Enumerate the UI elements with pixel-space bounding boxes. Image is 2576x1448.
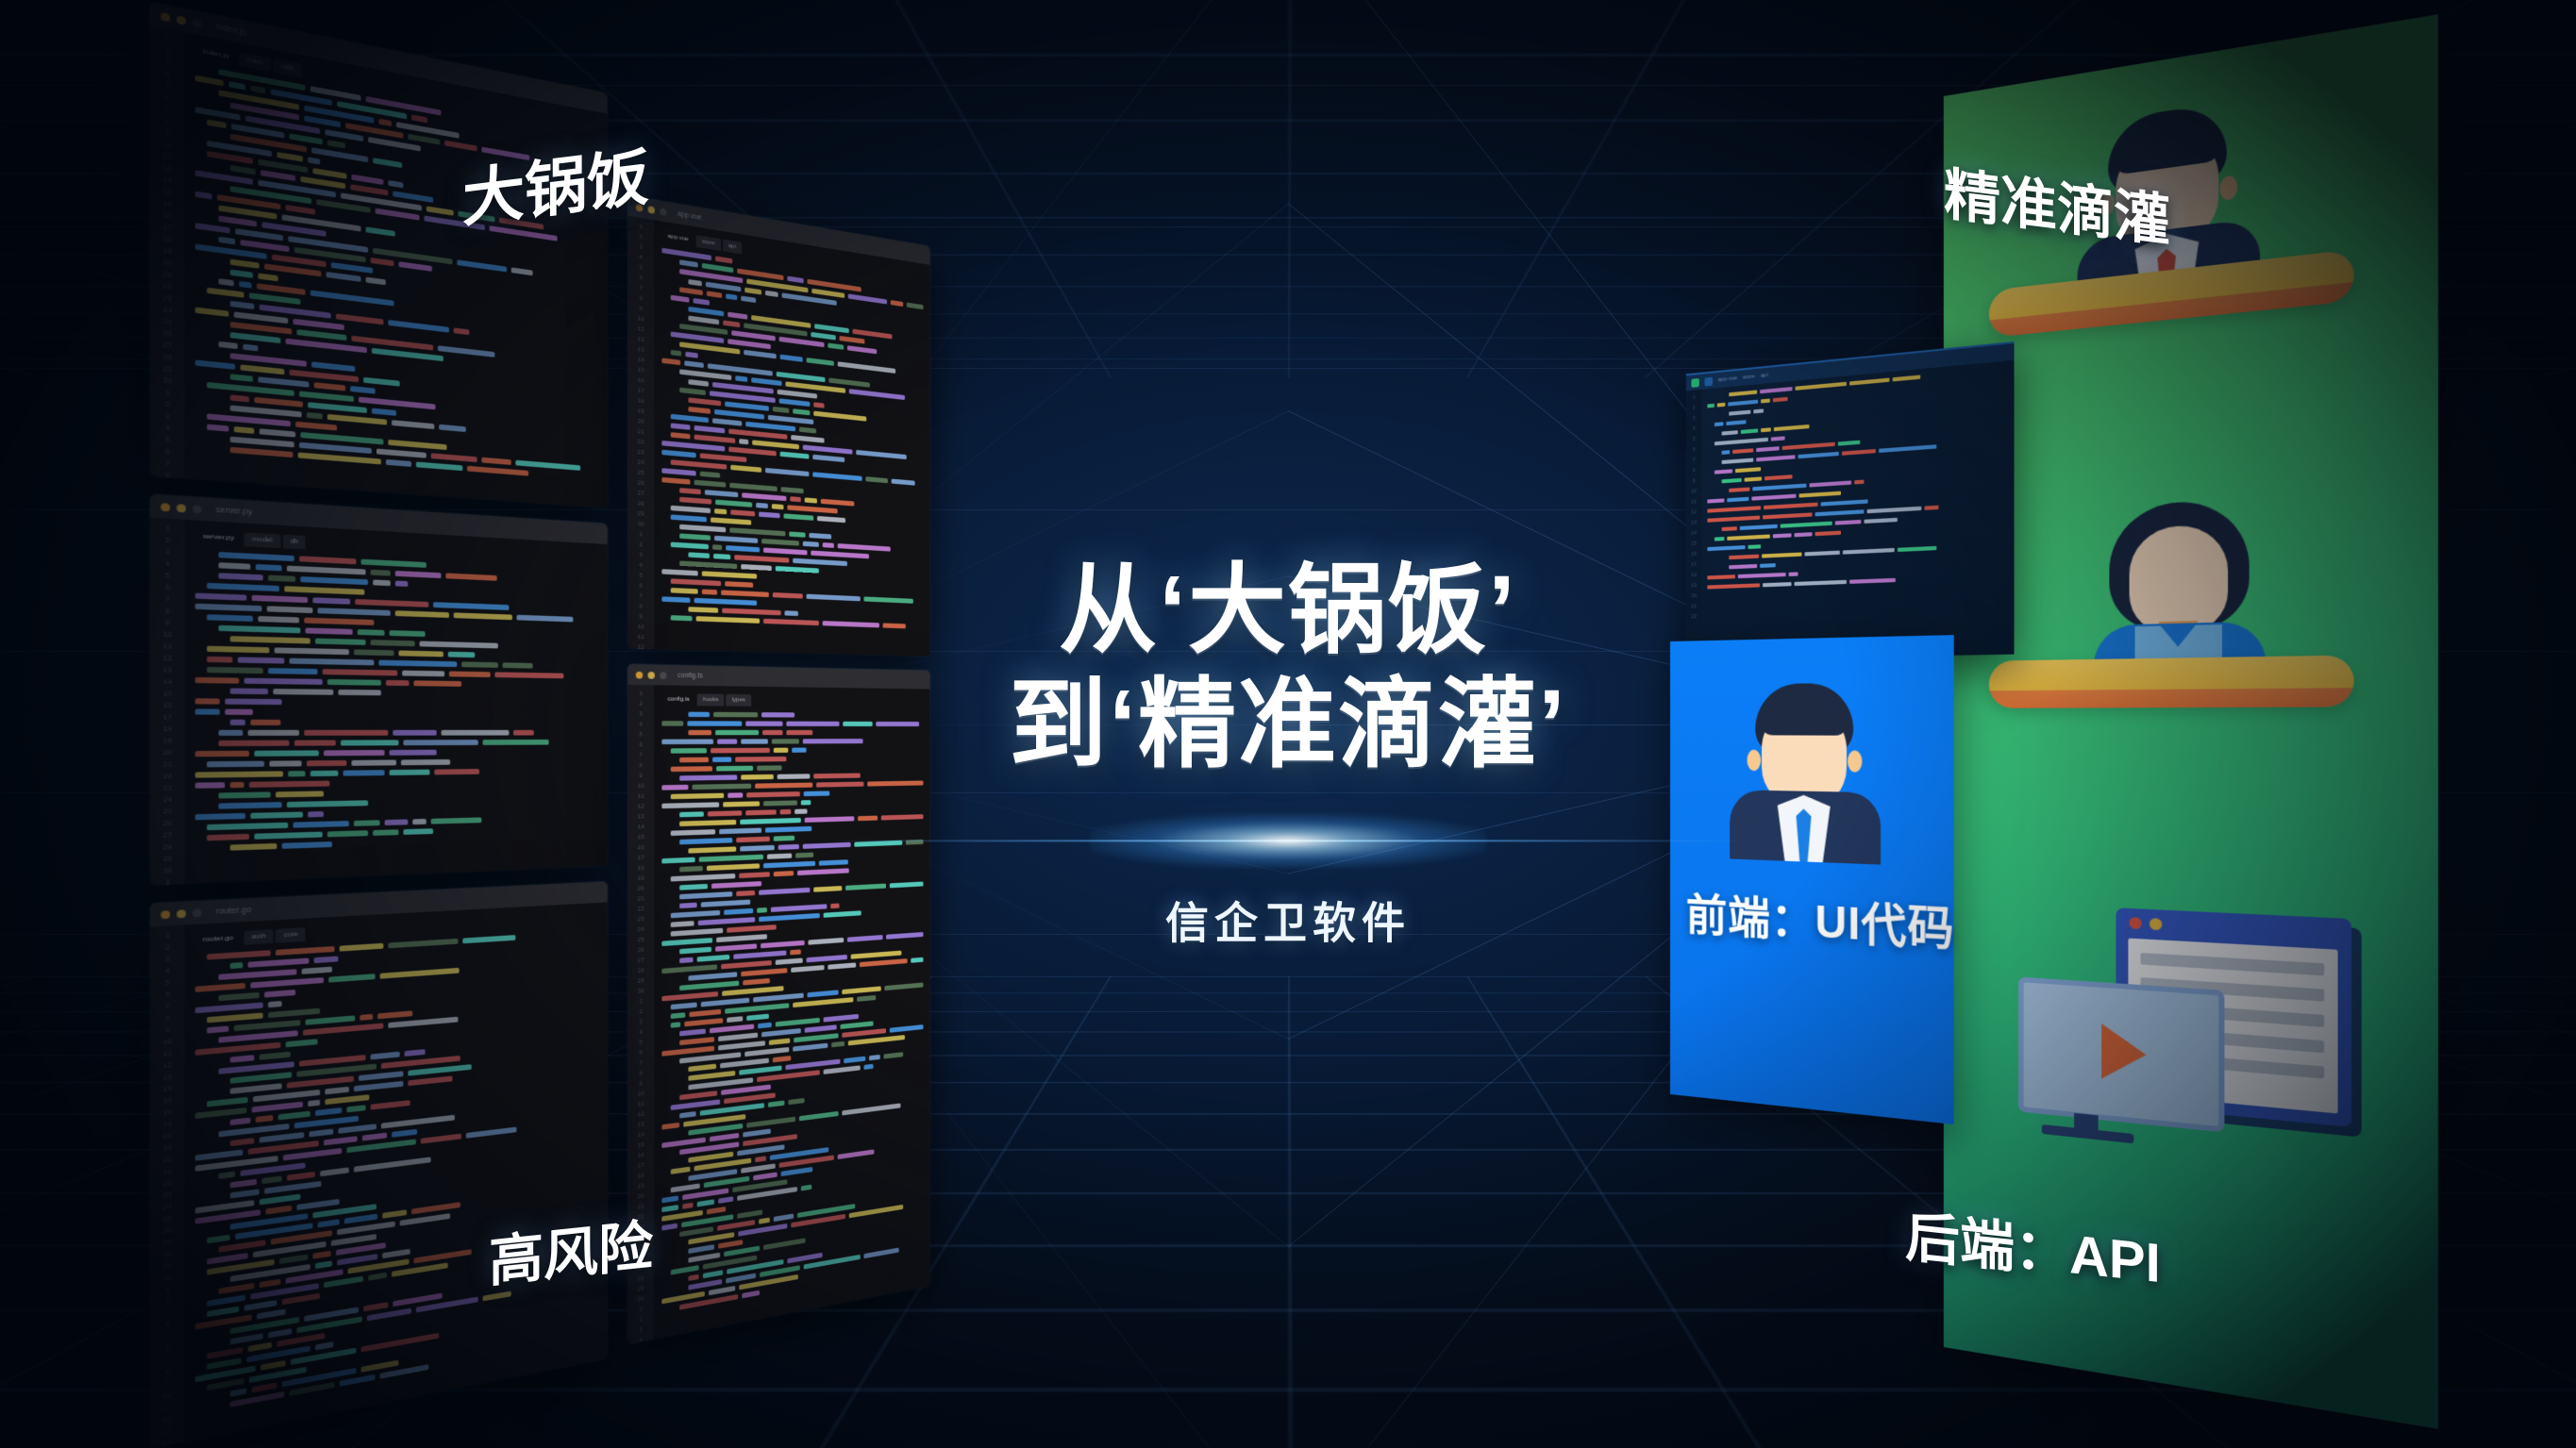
minimize-icon[interactable] — [176, 504, 186, 512]
code-token — [294, 741, 336, 746]
line-number: 15 — [637, 1142, 644, 1150]
code-token — [802, 444, 852, 454]
grid-line-vertical — [2536, 976, 2576, 1448]
line-number: 17 — [637, 388, 644, 394]
code-token — [377, 1010, 413, 1019]
code-token — [392, 420, 434, 429]
line-number: 9 — [165, 484, 170, 491]
code-token — [327, 140, 345, 148]
line-number: 26 — [162, 330, 172, 339]
code-token — [394, 610, 449, 618]
maximize-icon[interactable] — [660, 672, 666, 679]
code-token — [207, 1235, 230, 1244]
code-token — [789, 1098, 805, 1105]
code-token — [1752, 484, 1806, 491]
editor-tab[interactable]: app.vue — [661, 229, 694, 246]
code-token — [761, 712, 795, 717]
code-token — [869, 1055, 880, 1060]
code-token — [327, 414, 387, 425]
code-token — [401, 759, 451, 765]
close-icon[interactable] — [160, 11, 170, 22]
editor-tab[interactable]: api — [723, 240, 742, 255]
code-token — [688, 397, 721, 406]
code-token — [511, 267, 533, 275]
code-token — [1781, 442, 1835, 450]
code-token — [721, 960, 772, 969]
line-number: 8 — [165, 118, 170, 125]
code-token — [679, 903, 697, 908]
code-token — [195, 223, 229, 233]
code-token — [671, 1167, 690, 1174]
line-number: 29 — [637, 511, 644, 518]
code-token — [195, 708, 220, 714]
line-number: 3 — [639, 1020, 643, 1026]
close-icon[interactable] — [160, 909, 170, 918]
code-token — [313, 956, 338, 963]
line-number: 26 — [162, 1227, 172, 1236]
code-token — [801, 1185, 811, 1191]
close-icon[interactable] — [160, 502, 170, 510]
line-number: 13 — [162, 1427, 172, 1436]
code-token — [713, 554, 730, 559]
code-token — [230, 437, 294, 448]
code-token — [721, 590, 768, 597]
code-token — [794, 1033, 839, 1042]
code-token — [842, 986, 881, 994]
code-token — [804, 497, 816, 503]
editor-tab[interactable]: server.py — [195, 529, 243, 545]
editor-tab[interactable]: utils — [274, 58, 302, 77]
code-token — [1760, 563, 1776, 568]
code-token — [842, 1028, 885, 1038]
line-number: 7 — [165, 1357, 170, 1365]
code-token — [738, 1209, 762, 1218]
code-token — [355, 599, 428, 607]
code-token — [351, 175, 383, 185]
code-token — [689, 1009, 721, 1017]
line-number: 16 — [637, 845, 644, 852]
code-token — [207, 657, 233, 663]
line-number: 27 — [637, 957, 644, 964]
line-number: 10 — [637, 1090, 644, 1097]
line-number: 24 — [637, 927, 644, 934]
code-token — [757, 907, 766, 913]
code-token — [219, 216, 258, 227]
code-token — [195, 813, 245, 820]
line-number: 7 — [639, 285, 643, 291]
code-token — [761, 940, 804, 948]
code-token — [722, 608, 781, 616]
line-number: 15 — [162, 200, 172, 208]
code-token — [711, 517, 751, 524]
code-token — [778, 774, 810, 779]
line-number: 1 — [165, 390, 170, 397]
code-token — [806, 955, 846, 962]
line-number: 24 — [162, 307, 172, 315]
line-number: 28 — [162, 354, 172, 362]
maximize-icon[interactable] — [192, 18, 202, 28]
close-icon[interactable] — [636, 671, 643, 678]
line-number: 22 — [637, 907, 644, 913]
code-token — [481, 458, 510, 465]
line-number: 4 — [639, 1338, 643, 1344]
code-token — [671, 514, 707, 522]
line-number: 4 — [165, 968, 170, 975]
code-token — [688, 279, 701, 286]
line-number: 20 — [162, 1157, 172, 1165]
code-token — [679, 947, 711, 955]
code-token — [315, 639, 365, 645]
code-token — [821, 499, 854, 507]
line-number: 19 — [162, 738, 172, 745]
code-token — [324, 750, 384, 756]
code-token — [679, 774, 737, 780]
minimize-icon[interactable] — [176, 909, 186, 918]
code-token — [779, 355, 802, 362]
code-token — [306, 1015, 356, 1024]
code-token — [740, 1065, 782, 1074]
code-token — [715, 730, 759, 735]
code-token — [856, 450, 906, 459]
code-token — [671, 506, 711, 513]
code-token — [1729, 390, 1757, 396]
code-token — [305, 730, 388, 736]
line-number: 11 — [162, 1051, 172, 1058]
code-token — [791, 435, 824, 443]
editor-area[interactable]: router.goauthcore — [185, 902, 608, 1441]
code-token — [230, 1083, 282, 1094]
line-number: 6 — [639, 583, 643, 590]
code-token — [850, 951, 901, 959]
code-token — [230, 1072, 293, 1084]
line-number: 13 — [162, 176, 172, 185]
editor-tab[interactable]: index.js — [195, 43, 237, 65]
code-token — [363, 377, 401, 387]
code-token — [761, 1028, 801, 1037]
code-token — [285, 1039, 317, 1047]
line-number: 11 — [1691, 499, 1697, 505]
grid-line-vertical — [1288, 976, 1313, 1448]
code-token — [274, 689, 333, 695]
code-token — [207, 583, 279, 591]
line-number-gutter: 1234567891011121314151617181920212223242… — [627, 216, 654, 650]
code-token — [379, 968, 459, 979]
code-token — [207, 1347, 243, 1359]
code-token — [250, 977, 324, 989]
code-token — [502, 662, 532, 668]
code-token — [482, 740, 548, 745]
code-token — [1722, 458, 1754, 465]
code-window[interactable]: server.py1234567891011121314151617181920… — [150, 494, 608, 886]
line-number: 1 — [165, 933, 170, 940]
line-number: 29 — [162, 856, 172, 863]
line-number: 6 — [165, 585, 170, 592]
code-token — [1763, 582, 1792, 587]
code-line — [195, 740, 599, 746]
code-token — [661, 468, 696, 475]
code-token — [1735, 467, 1761, 473]
code-token — [1842, 449, 1876, 456]
code-token — [1707, 404, 1715, 408]
code-line — [195, 758, 599, 768]
code-token — [679, 388, 706, 395]
code-token — [195, 1107, 246, 1119]
code-token — [1849, 578, 1896, 584]
code-token — [765, 291, 778, 297]
grid-line-vertical — [0, 0, 42, 377]
maximize-icon[interactable] — [192, 505, 202, 513]
line-number: 3 — [165, 549, 170, 557]
run-icon — [1691, 377, 1698, 387]
editor-tab[interactable]: core — [276, 927, 306, 942]
line-number: 1 — [165, 36, 170, 43]
code-token — [744, 350, 776, 358]
code-token — [726, 293, 737, 300]
code-token — [700, 472, 719, 478]
code-token — [1715, 438, 1768, 446]
code-token — [791, 965, 824, 973]
code-token — [230, 1138, 255, 1146]
code-token — [343, 770, 385, 775]
code-token — [219, 969, 296, 980]
line-number: 25 — [162, 808, 172, 816]
content-line — [2140, 953, 2324, 975]
code-token — [774, 871, 795, 876]
code-token — [219, 1283, 255, 1294]
code-token — [219, 625, 300, 634]
code-token — [195, 677, 239, 684]
code-token — [793, 408, 810, 415]
code-token — [857, 995, 877, 1002]
line-number: 6 — [165, 991, 170, 999]
line-number: 29 — [637, 978, 644, 985]
editor-tab[interactable]: config.ts — [661, 693, 695, 706]
editor-tab[interactable]: router.go — [195, 931, 242, 948]
line-number: 6 — [165, 449, 170, 457]
code-token — [711, 748, 770, 754]
code-token — [671, 766, 712, 772]
code-token — [688, 552, 710, 558]
line-number: 2 — [639, 701, 643, 707]
code-token — [315, 1341, 333, 1350]
editor-tab[interactable]: main — [240, 52, 272, 72]
code-token — [314, 382, 346, 391]
line-number: 15 — [162, 1098, 172, 1107]
headline-line-2: 到‘精准滴灌’ — [816, 668, 1760, 782]
code-token — [448, 652, 475, 657]
line-number: 14 — [162, 679, 172, 687]
code-token — [230, 689, 269, 695]
code-token — [207, 1295, 245, 1307]
code-token — [409, 134, 441, 145]
line-number: 9 — [639, 614, 643, 621]
line-number: 5 — [165, 1334, 170, 1341]
code-token — [709, 1286, 735, 1295]
close-icon — [2130, 916, 2142, 928]
line-number: 8 — [165, 473, 170, 480]
code-token — [703, 1270, 723, 1278]
code-token — [715, 943, 758, 951]
code-token — [207, 614, 253, 622]
code-token — [259, 1052, 291, 1060]
code-token — [1820, 499, 1868, 506]
line-number: 10 — [637, 316, 644, 324]
code-token — [341, 740, 399, 745]
code-token — [1762, 553, 1801, 558]
editor-tab[interactable]: auth — [243, 929, 274, 944]
hair-fringe — [1759, 702, 1849, 736]
code-token — [752, 440, 798, 449]
minimize-icon[interactable] — [648, 671, 655, 678]
code-token — [266, 1206, 293, 1215]
code-token — [370, 1100, 410, 1110]
editor-tab[interactable]: db — [283, 535, 306, 550]
code-token — [679, 560, 737, 569]
line-number: 17 — [637, 856, 644, 862]
code-token — [388, 180, 404, 189]
code-token — [350, 184, 388, 195]
code-token — [296, 422, 337, 431]
editor-area[interactable]: index.jsmainutils — [185, 32, 608, 508]
code-token — [230, 447, 293, 458]
code-token — [388, 939, 459, 949]
code-token — [264, 990, 296, 998]
line-number: 4 — [639, 722, 643, 728]
code-token — [276, 791, 324, 797]
code-token — [219, 573, 264, 580]
line-number: 8 — [639, 1071, 643, 1077]
code-line — [195, 720, 599, 726]
code-token — [376, 449, 427, 458]
code-token — [297, 1199, 340, 1210]
line-number: 6 — [639, 1050, 643, 1057]
code-token — [1924, 506, 1938, 510]
code-token — [773, 836, 795, 841]
line-number: 12 — [1691, 509, 1697, 515]
code-token — [267, 606, 313, 613]
line-number: 8 — [165, 1369, 170, 1376]
code-token — [370, 570, 391, 576]
tab-label: store — [1743, 374, 1755, 380]
line-number: 7 — [639, 593, 643, 600]
line-number: 18 — [162, 236, 172, 244]
code-token — [706, 291, 722, 298]
code-token — [741, 968, 787, 976]
editor-tab[interactable]: types — [727, 694, 751, 707]
code-token — [230, 259, 259, 269]
code-token — [287, 800, 368, 807]
code-token — [671, 432, 690, 439]
line-number: 2 — [165, 402, 170, 409]
line-number: 1 — [639, 691, 643, 698]
code-token — [219, 1172, 235, 1179]
code-token — [259, 1279, 281, 1289]
window-body: 1234567891011121314151617181920212223242… — [150, 902, 608, 1448]
line-number: 23 — [637, 917, 644, 924]
window-filename: index.js — [216, 23, 246, 37]
editor-tab[interactable]: model — [244, 532, 280, 548]
line-number: 17 — [637, 1163, 644, 1171]
code-token — [671, 588, 698, 594]
editor-tab[interactable]: store — [696, 235, 721, 251]
line-number: 30 — [162, 1274, 172, 1283]
code-token — [238, 657, 284, 663]
code-token — [693, 784, 752, 790]
code-token — [1729, 487, 1749, 492]
code-token — [787, 730, 813, 735]
code-token — [411, 114, 427, 123]
code-token — [847, 345, 877, 354]
code-token — [718, 1040, 765, 1050]
code-token — [1815, 531, 1841, 537]
minimize-icon[interactable] — [176, 15, 186, 25]
code-token — [911, 957, 923, 963]
line-number: 16 — [162, 1109, 172, 1118]
grid-line-vertical — [0, 976, 42, 1448]
maximize-icon[interactable] — [192, 908, 202, 917]
code-token — [259, 616, 300, 623]
code-token — [1879, 444, 1936, 453]
code-token — [287, 1172, 314, 1181]
line-number: 26 — [637, 947, 644, 954]
line-number: 17 — [162, 714, 172, 722]
code-token — [661, 740, 713, 745]
code-token — [728, 447, 776, 457]
code-token — [230, 270, 254, 278]
code-token — [763, 800, 798, 806]
code-token — [714, 409, 764, 420]
code-token — [742, 1290, 760, 1299]
line-number: 18 — [162, 1133, 172, 1141]
line-number: 10 — [162, 1039, 172, 1046]
editor-tab[interactable]: hooks — [697, 693, 725, 706]
code-token — [714, 508, 727, 514]
line-number: 5 — [165, 83, 170, 91]
line-number: 20 — [637, 886, 644, 892]
line-number: 2 — [1693, 406, 1696, 411]
line-number: 27 — [637, 491, 644, 497]
code-token — [195, 983, 245, 992]
code-token — [252, 1383, 276, 1393]
file-icon — [1705, 376, 1714, 386]
code-token — [705, 490, 738, 497]
line-number: 5 — [165, 980, 170, 988]
code-token — [338, 690, 381, 695]
line-number: 3 — [1693, 416, 1696, 422]
line-number: 11 — [637, 326, 644, 334]
code-token — [325, 1136, 358, 1145]
code-token — [787, 275, 804, 283]
editor-area[interactable]: server.pymodeldb — [185, 520, 608, 884]
line-number: 2 — [165, 538, 170, 545]
maximize-icon[interactable] — [660, 208, 666, 216]
line-number: 9 — [165, 620, 170, 627]
code-token — [318, 607, 390, 616]
code-token — [230, 1179, 258, 1189]
code-window[interactable]: index.js12345678910111213141516171819202… — [150, 2, 608, 508]
code-token — [454, 612, 512, 620]
code-token — [495, 672, 563, 678]
code-token — [759, 913, 820, 922]
code-token — [310, 361, 355, 372]
code-token — [354, 820, 380, 826]
code-token — [679, 524, 727, 533]
line-number: 30 — [162, 868, 172, 875]
window-body: 1234567891011121314151617181920212223242… — [150, 518, 608, 886]
code-token — [207, 1012, 262, 1023]
code-token — [661, 450, 695, 458]
code-window[interactable]: router.go1234567891011121314151617181920… — [150, 881, 608, 1448]
